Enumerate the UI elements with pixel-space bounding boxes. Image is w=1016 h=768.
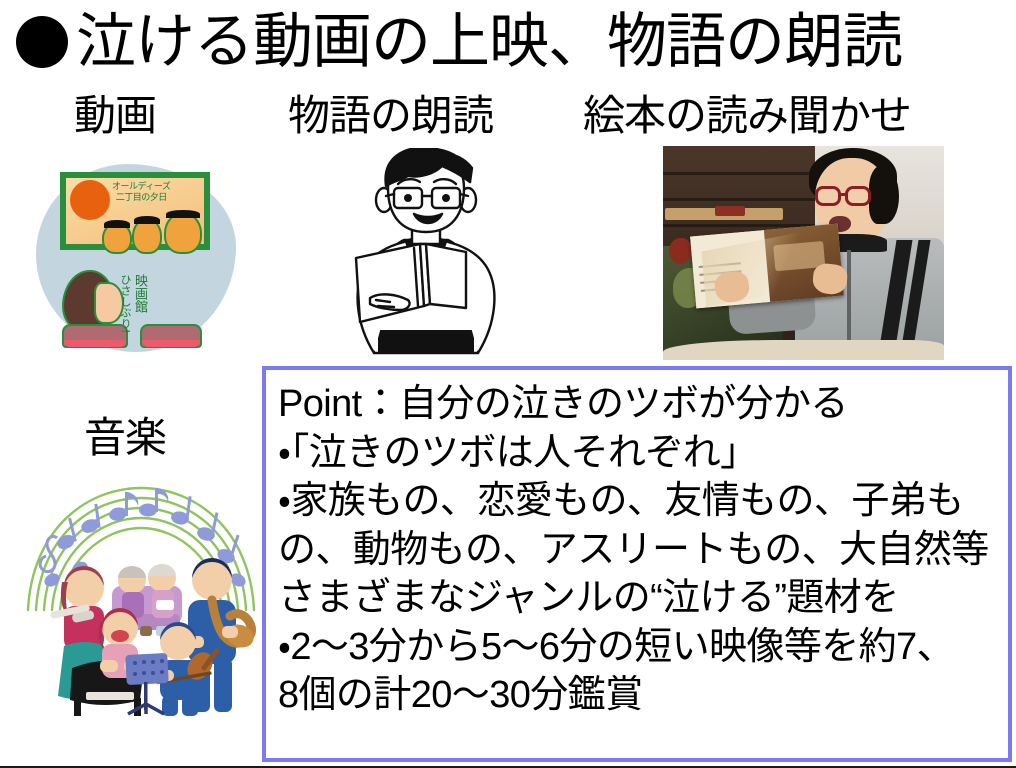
picture-book-reading-photo — [663, 146, 944, 360]
photo-red-glasses-left-lens — [815, 186, 841, 206]
point-line: 8個の計20〜30分鑑賞 — [278, 671, 1002, 720]
cinema-seat-left-trim — [64, 340, 126, 347]
bullet-dot-icon — [16, 16, 68, 68]
cinema-hat-icon — [134, 216, 160, 224]
cinema-screen-title: オールディーズ 二丁目の夕日 — [112, 182, 170, 204]
music-people-svg — [16, 550, 266, 716]
caption-video: 動画 — [74, 93, 156, 139]
cinema-figure-1 — [102, 222, 132, 254]
photo-jacket-zipper — [847, 250, 851, 354]
cinema-screen: オールディーズ 二丁目の夕日 — [60, 172, 210, 250]
cinema-screen-title-line1: オールディーズ — [112, 182, 170, 193]
photo-person-hair-side — [869, 166, 899, 224]
point-line: の、動物もの、アスリートもの、大自然等 — [278, 526, 1002, 575]
reader-lineart-svg — [316, 148, 536, 360]
point-line: さまざまなジャンルの“泣ける”題材を — [278, 574, 1002, 623]
cinema-hat-icon — [104, 220, 130, 228]
point-line: ・「泣きのツボは人それぞれ」 — [278, 429, 1002, 478]
man-reading-book-lineart — [316, 148, 536, 360]
cinema-figure-3 — [164, 212, 202, 254]
caption-music: 音楽 — [84, 415, 166, 461]
cinema-hat-icon — [166, 210, 200, 218]
photo-red-glasses-right-lens — [845, 186, 871, 206]
cinema-figure-2 — [132, 218, 162, 254]
point-line: ・2〜3分から5〜6分の短い映像等を約7、 — [278, 623, 1002, 672]
cinema-sun-icon — [70, 180, 110, 220]
photo-shelf-line — [663, 198, 815, 201]
photo-table-edge — [663, 340, 944, 360]
photo-glasses-bridge — [840, 193, 847, 196]
movie-theater-illustration: オールディーズ 二丁目の夕日 映画館 ひさしぶり! — [36, 158, 236, 356]
slide-canvas: 泣ける動画の上映、物語の朗読 動画 物語の朗読 絵本の読み聞かせ 音楽 オールデ… — [0, 0, 1016, 768]
caption-picture-book: 絵本の読み聞かせ — [583, 93, 911, 139]
photo-shelf-line — [663, 224, 815, 227]
page-title: 泣ける動画の上映、物語の朗読 — [76, 10, 902, 74]
photo-shelf-line — [663, 172, 815, 175]
cinema-caption-longtime: ひさしぶり! — [118, 274, 132, 333]
photo-red-object — [715, 206, 745, 216]
cinema-screen-title-line2: 二丁目の夕日 — [112, 193, 170, 204]
cinema-caption-theater: 映画館 — [132, 274, 146, 313]
point-text-box: Point：自分の泣きのツボが分かる ・「泣きのツボは人それぞれ」 ・家族もの、… — [262, 366, 1012, 762]
slide-title-row: 泣ける動画の上映、物語の朗読 — [16, 4, 902, 80]
point-line: Point：自分の泣きのツボが分かる — [278, 380, 1002, 429]
cinema-seat-right-trim — [142, 340, 200, 347]
point-line: ・家族もの、恋愛もの、友情もの、子弟も — [278, 477, 1002, 526]
family-ensemble-illustration — [16, 478, 266, 716]
photo-red-object — [669, 238, 691, 264]
caption-story-reading: 物語の朗読 — [288, 93, 493, 139]
